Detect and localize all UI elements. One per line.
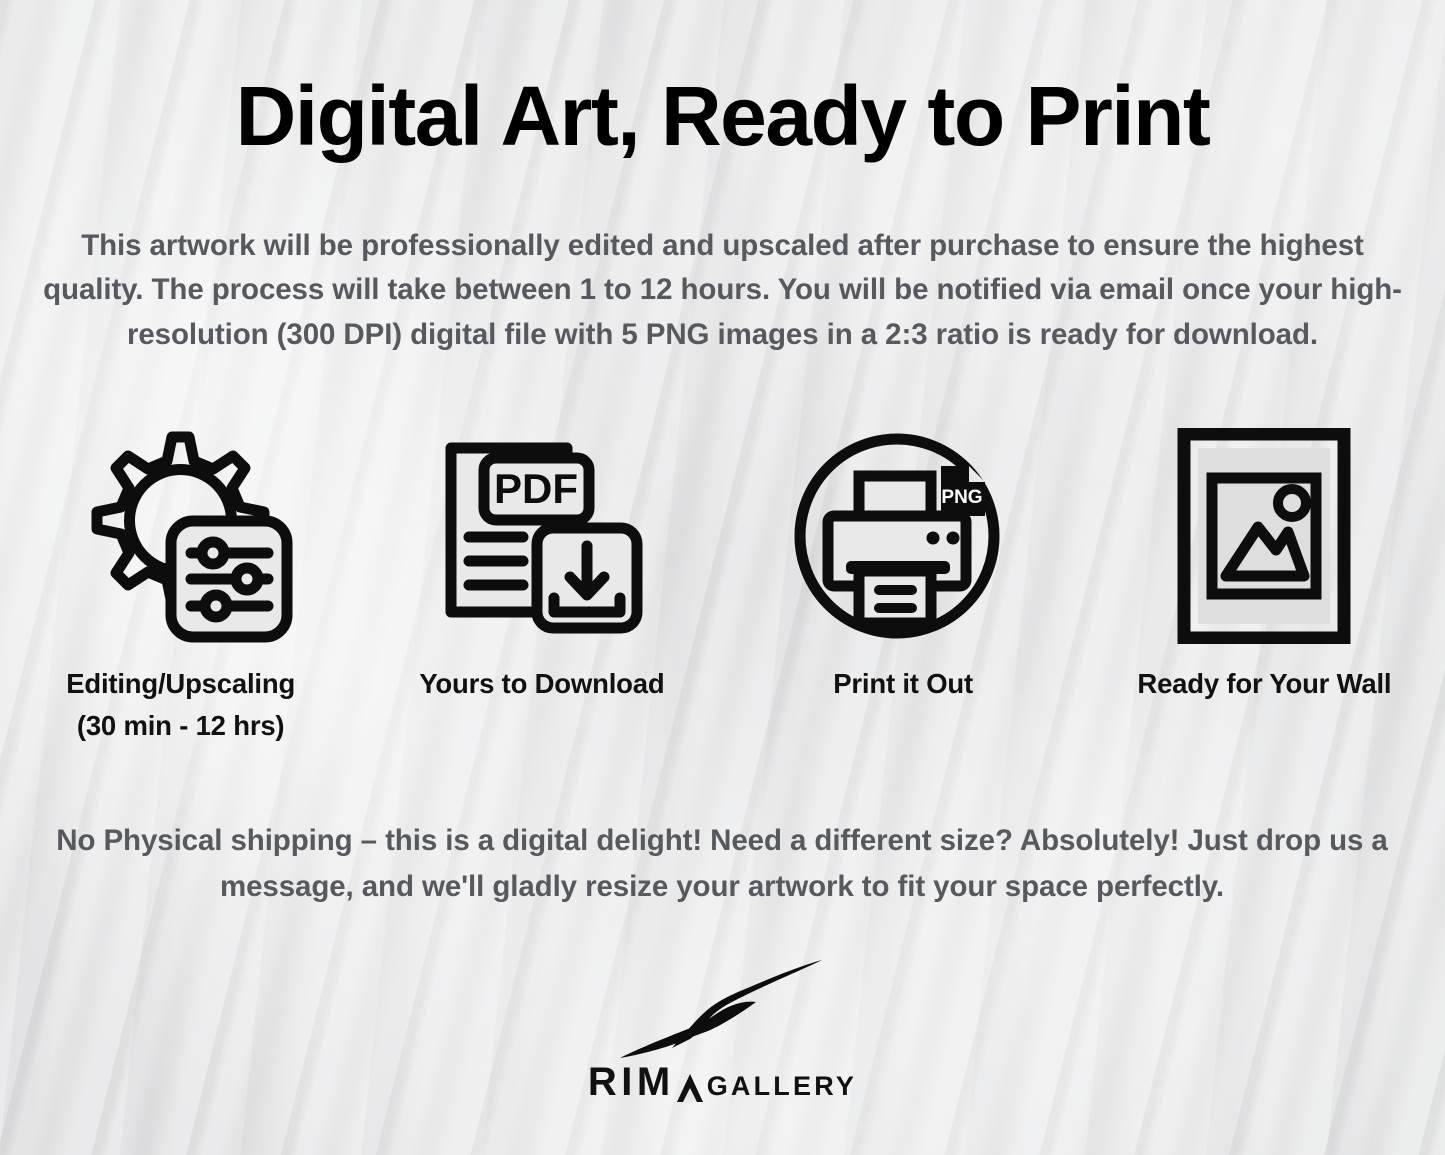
feature-label: Print it Out <box>833 663 973 705</box>
feature-editing-upscaling: Editing/Upscaling (30 min - 12 hrs) <box>0 418 361 747</box>
pdf-badge-text: PDF <box>494 465 578 512</box>
page-title: Digital Art, Ready to Print <box>0 74 1445 158</box>
intro-paragraph: This artwork will be professionally edit… <box>40 224 1405 357</box>
png-badge-text: PNG <box>942 487 983 508</box>
printer-circle-icon: PNG <box>793 418 1013 653</box>
feature-print-it-out: PNG Print it Out <box>723 418 1084 705</box>
rima-wing-mark <box>608 950 838 1060</box>
outro-paragraph: No Physical shipping – this is a digital… <box>42 818 1402 909</box>
feature-row: Editing/Upscaling (30 min - 12 hrs) <box>0 418 1445 747</box>
logo-gallery: GALLERY <box>707 1073 857 1100</box>
gear-sliders-icon <box>67 418 295 653</box>
feature-yours-to-download: PDF Yours to Download <box>361 418 722 705</box>
feature-ready-for-your-wall: Ready for Your Wall <box>1084 418 1445 705</box>
logo-rima-text: RIM <box>588 1062 675 1102</box>
logo-triangle-a <box>677 1074 704 1102</box>
pdf-download-icon: PDF <box>439 418 645 653</box>
feature-label: Editing/Upscaling (30 min - 12 hrs) <box>66 663 295 747</box>
feature-label: Ready for Your Wall <box>1137 663 1391 705</box>
promo-graphic: Digital Art, Ready to Print This artwork… <box>0 0 1445 1155</box>
brand-logo: RIM GALLERY <box>0 950 1445 1102</box>
logo-rima: RIM <box>588 1062 706 1102</box>
framed-picture-icon <box>1176 418 1352 653</box>
feature-label: Yours to Download <box>419 663 664 705</box>
logo-wordmark: RIM GALLERY <box>588 1062 857 1102</box>
